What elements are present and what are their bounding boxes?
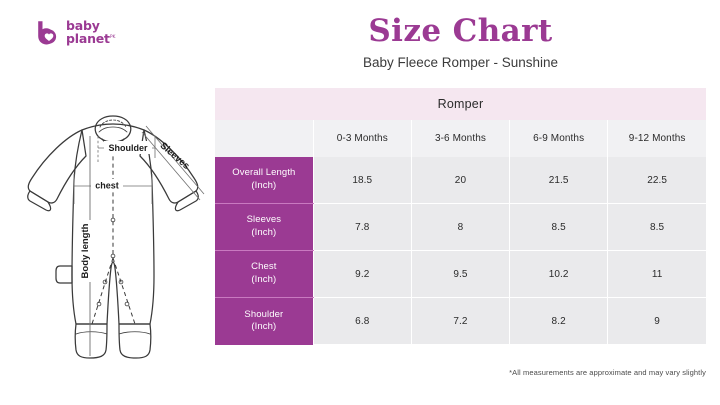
brand-name-line2-text: planet [66, 31, 110, 46]
snap-placket-dashed [92, 142, 135, 324]
measurements-disclaimer: *All measurements are approximate and ma… [509, 368, 706, 377]
right-sleeve-shape [140, 130, 198, 203]
side-tab [56, 266, 72, 283]
table-banner-cell: Romper [215, 88, 706, 120]
shoulder-label: Shoulder [108, 143, 147, 153]
row-label-unit: (Inch) [251, 180, 276, 191]
cell-shoulder-0-3: 6.8 [313, 298, 411, 345]
cell-sleeves-3-6: 8 [411, 204, 509, 251]
column-header-6-9-months: 6-9 Months [510, 120, 608, 157]
cell-overall-length-9-12: 22.5 [608, 157, 706, 204]
cell-overall-length-6-9: 21.5 [510, 157, 608, 204]
right-foot [119, 324, 151, 358]
body-length-callout: Body length [78, 220, 92, 282]
page-title: Size Chart [215, 14, 706, 48]
row-label-unit: (Inch) [251, 321, 276, 332]
cell-chest-9-12: 11 [608, 251, 706, 298]
size-chart-table: Romper 0-3 Months 3-6 Months 6-9 Months … [215, 88, 706, 345]
row-label-sleeves: Sleeves (Inch) [215, 204, 313, 251]
baby-planet-b-heart-icon [36, 20, 60, 46]
cell-shoulder-6-9: 8.2 [510, 298, 608, 345]
column-header-0-3-months: 0-3 Months [313, 120, 411, 157]
table-row: Chest (Inch) 9.2 9.5 10.2 11 [215, 251, 706, 298]
chest-callout: chest [91, 179, 123, 191]
header-block: Size Chart Baby Fleece Romper - Sunshine [215, 14, 706, 71]
column-header-9-12-months: 9-12 Months [608, 120, 706, 157]
table-body: Romper 0-3 Months 3-6 Months 6-9 Months … [215, 88, 706, 345]
chest-label: chest [95, 181, 119, 191]
brand-wordmark: baby planetPK [66, 20, 116, 46]
table-row: Sleeves (Inch) 7.8 8 8.5 8.5 [215, 204, 706, 251]
brand-trademark: PK [110, 35, 116, 40]
row-label-line1: Overall Length [232, 167, 295, 178]
cell-sleeves-0-3: 7.8 [313, 204, 411, 251]
table-corner-cell [215, 120, 313, 157]
page-subtitle: Baby Fleece Romper - Sunshine [215, 55, 706, 71]
left-foot-stitch [76, 332, 107, 334]
cell-chest-6-9: 10.2 [510, 251, 608, 298]
cell-sleeves-9-12: 8.5 [608, 204, 706, 251]
row-label-line1: Sleeves [247, 214, 282, 225]
table-banner-row: Romper [215, 88, 706, 120]
sleeves-guide [142, 126, 204, 200]
cell-shoulder-9-12: 9 [608, 298, 706, 345]
row-label-line1: Chest [251, 261, 276, 272]
row-label-line1: Shoulder [244, 309, 283, 320]
left-sleeve-shape [28, 130, 86, 203]
cell-sleeves-6-9: 8.5 [510, 204, 608, 251]
left-foot [75, 324, 107, 358]
cell-chest-3-6: 9.5 [411, 251, 509, 298]
brand-logo[interactable]: baby planetPK [36, 20, 116, 46]
right-foot-stitch [119, 332, 150, 334]
row-label-overall-length: Overall Length (Inch) [215, 157, 313, 204]
row-label-unit: (Inch) [251, 274, 276, 285]
row-label-unit: (Inch) [251, 227, 276, 238]
body-length-label: Body length [80, 223, 91, 278]
row-label-chest: Chest (Inch) [215, 251, 313, 298]
shoulder-callout: Shoulder [104, 141, 152, 154]
cell-chest-0-3: 9.2 [313, 251, 411, 298]
table-row: Shoulder (Inch) 6.8 7.2 8.2 9 [215, 298, 706, 345]
cell-shoulder-3-6: 7.2 [411, 298, 509, 345]
collar-inner-line [99, 127, 127, 132]
column-header-3-6-months: 3-6 Months [411, 120, 509, 157]
brand-name-line2: planetPK [66, 33, 116, 46]
collar-outer [95, 116, 131, 142]
cell-overall-length-3-6: 20 [411, 157, 509, 204]
table-row: Overall Length (Inch) 18.5 20 21.5 22.5 [215, 157, 706, 204]
size-chart-page: baby planetPK Size Chart Baby Fleece Rom… [0, 0, 720, 405]
row-label-shoulder: Shoulder (Inch) [215, 298, 313, 345]
left-cuff [28, 191, 51, 211]
cell-overall-length-0-3: 18.5 [313, 157, 411, 204]
table-header-row: 0-3 Months 3-6 Months 6-9 Months 9-12 Mo… [215, 120, 706, 157]
romper-technical-illustration: Shoulder chest Body length Sleeves [18, 108, 208, 363]
